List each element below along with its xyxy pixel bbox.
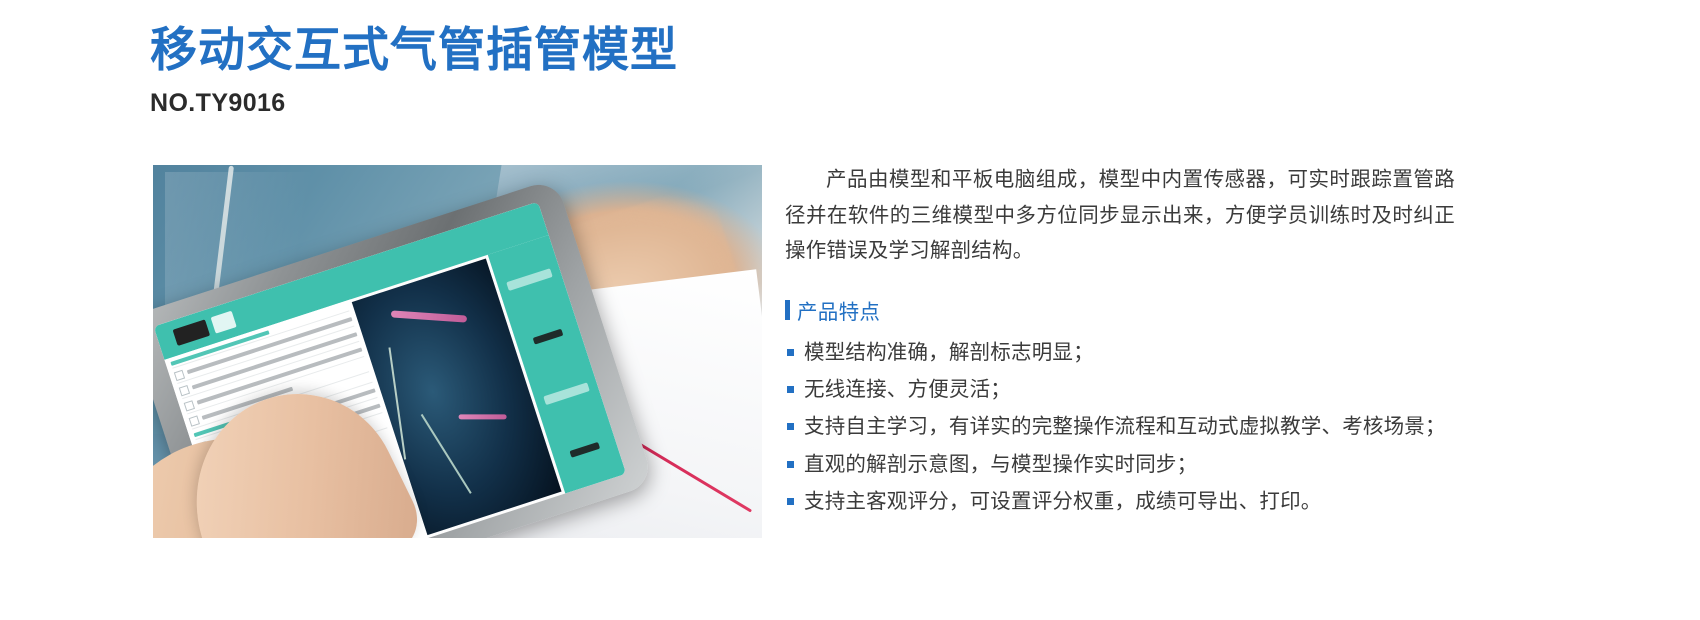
checkbox-icon bbox=[189, 415, 200, 426]
list-item: 支持自主学习，有详实的完整操作流程和互动式虚拟教学、考核场景； bbox=[785, 409, 1455, 444]
features-list: 模型结构准确，解剖标志明显； 无线连接、方便灵活； 支持自主学习，有详实的完整操… bbox=[785, 335, 1455, 519]
sidebar-button-icon bbox=[507, 268, 553, 291]
product-code: NO.TY9016 bbox=[150, 89, 1150, 118]
features-title: 产品特点 bbox=[797, 295, 880, 325]
photo-background bbox=[153, 165, 762, 538]
list-item: 模型结构准确，解剖标志明显； bbox=[785, 335, 1455, 370]
checkbox-icon bbox=[184, 399, 195, 410]
list-item: 直观的解剖示意图，与模型操作实时同步； bbox=[785, 447, 1455, 482]
sidebar-button-icon bbox=[533, 328, 563, 344]
intubation-tube-shape-secondary bbox=[459, 414, 507, 419]
page-header: 移动交互式气管插管模型 NO.TY9016 bbox=[150, 24, 1150, 118]
bronchial-branch-shape bbox=[421, 414, 472, 494]
sidebar-button-icon bbox=[544, 382, 590, 405]
topbar-chip-icon bbox=[172, 319, 210, 346]
page-title: 移动交互式气管插管模型 bbox=[150, 24, 1150, 77]
product-intro-text: 产品由模型和平板电脑组成，模型中内置传感器，可实时跟踪置管路径并在软件的三维模型… bbox=[785, 162, 1455, 269]
checkbox-icon bbox=[179, 384, 190, 395]
topbar-chip-light-icon bbox=[210, 310, 236, 334]
product-page: 移动交互式气管插管模型 NO.TY9016 bbox=[0, 0, 1700, 620]
list-item: 支持主客观评分，可设置评分权重，成绩可导出、打印。 bbox=[785, 484, 1455, 519]
sidebar-button-icon bbox=[570, 442, 600, 458]
product-description-column: 产品由模型和平板电脑组成，模型中内置传感器，可实时跟踪置管路径并在软件的三维模型… bbox=[785, 162, 1455, 521]
features-heading: 产品特点 bbox=[785, 295, 1455, 325]
list-item: 无线连接、方便灵活； bbox=[785, 372, 1455, 407]
checkbox-icon bbox=[174, 369, 185, 380]
product-photo bbox=[153, 165, 762, 538]
intubation-tube-shape bbox=[391, 310, 467, 322]
accent-bar-icon bbox=[785, 300, 790, 320]
